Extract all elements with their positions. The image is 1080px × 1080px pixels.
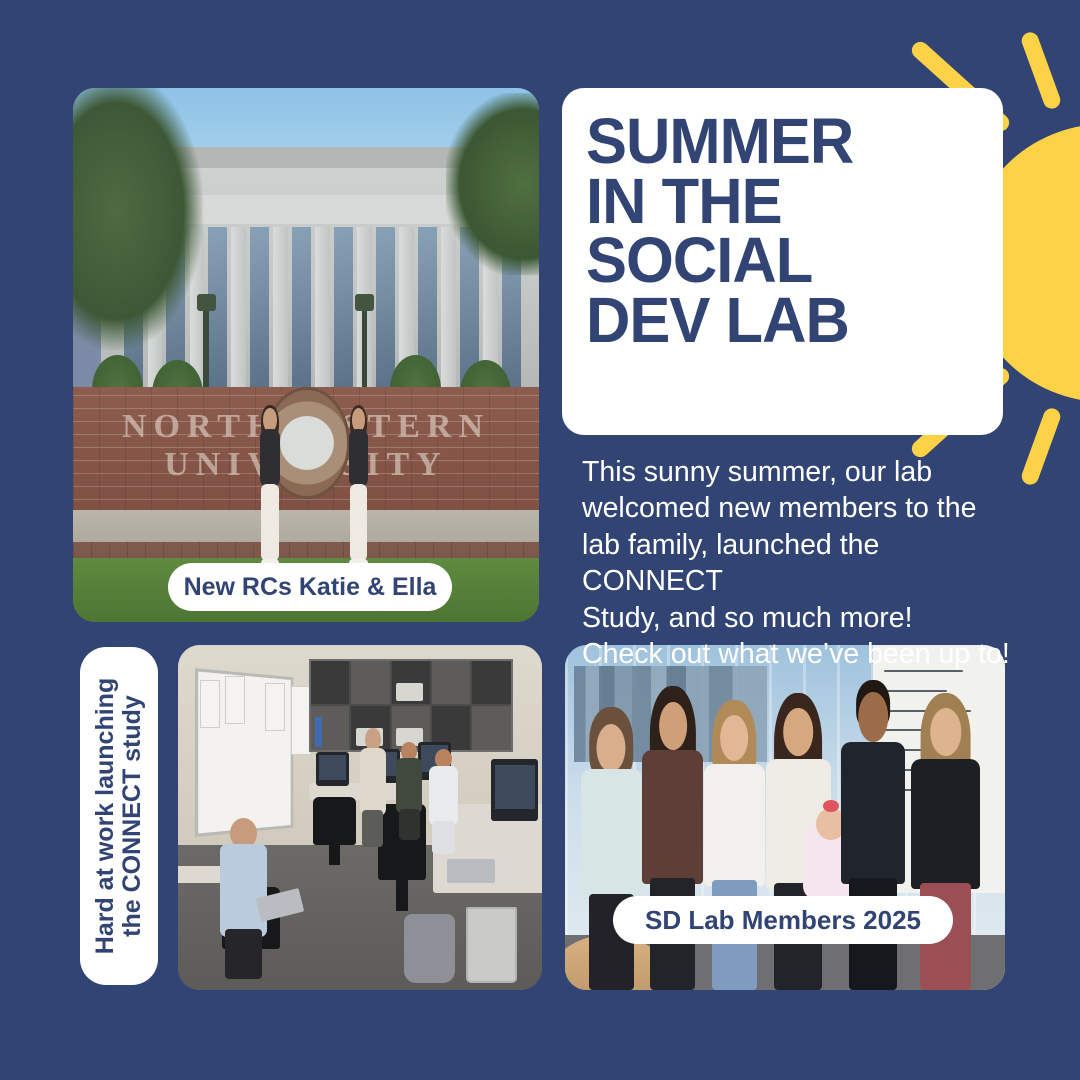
shelf-cell — [311, 661, 349, 705]
backpack — [404, 914, 455, 983]
legs — [362, 810, 383, 848]
building-window — [250, 227, 269, 393]
torso — [349, 429, 369, 487]
shelf-cell — [311, 706, 349, 750]
legs — [399, 809, 420, 840]
building-column — [273, 227, 287, 398]
tree-foliage — [73, 88, 203, 350]
group-member — [701, 700, 767, 990]
building-column — [231, 227, 245, 398]
caption-sd-lab-members: SD Lab Members 2025 — [613, 896, 953, 944]
person-katie — [255, 408, 286, 568]
wall-poster — [265, 683, 285, 731]
wall-poster — [225, 676, 245, 724]
caption-connect-line2: the CONNECT study — [118, 695, 146, 937]
legs — [432, 821, 455, 854]
torso — [642, 750, 703, 884]
page-title: SUMMER IN THE SOCIAL DEV LAB — [586, 112, 986, 350]
head — [783, 708, 813, 755]
wall-poster — [200, 680, 220, 728]
tree-foliage — [446, 93, 539, 275]
building-window — [334, 227, 353, 393]
group-member — [908, 693, 983, 990]
lamp-post — [362, 307, 368, 398]
person-at-desk — [426, 749, 462, 853]
shelf-cell — [351, 661, 389, 705]
building-column — [315, 227, 329, 398]
shelf-cell — [472, 661, 510, 705]
shelf-box — [396, 683, 423, 701]
caption-connect-text: Hard at work launchingthe CONNECT study — [92, 678, 146, 954]
head — [721, 715, 749, 761]
photo-lab-office — [178, 645, 542, 990]
torso — [911, 759, 980, 890]
lamp-post — [203, 307, 209, 398]
shelf-cell — [432, 661, 470, 705]
head — [597, 724, 626, 772]
caption-new-rcs: New RCs Katie & Ella — [168, 563, 452, 611]
torso — [220, 844, 267, 936]
sun-ray — [1019, 406, 1062, 487]
torso — [429, 766, 458, 826]
monitor — [316, 752, 349, 787]
office-chair — [313, 797, 357, 845]
torso — [581, 769, 642, 899]
building-window — [376, 227, 395, 393]
torso — [260, 429, 280, 487]
sun-ray — [1019, 30, 1062, 111]
person-seated — [393, 742, 426, 839]
building-window — [292, 227, 311, 393]
title-card: SUMMER IN THE SOCIAL DEV LAB — [562, 88, 1003, 435]
legs — [261, 484, 278, 561]
shelf-cell — [392, 661, 430, 705]
torso — [396, 758, 422, 814]
person-ella — [343, 408, 374, 568]
laptop — [447, 859, 494, 883]
storage-shelving — [309, 659, 513, 752]
legs — [350, 484, 367, 561]
head — [659, 702, 687, 751]
trash-bin — [466, 907, 517, 983]
group-member — [640, 686, 706, 990]
poster-canvas: NORTHEASTERN UNIVERSITY New RCs K — [0, 0, 1080, 1080]
caption-connect-line1: Hard at work launching — [91, 678, 119, 954]
head — [858, 692, 888, 742]
torso — [841, 742, 906, 885]
photo-campus-building: NORTHEASTERN UNIVERSITY — [73, 88, 539, 622]
person-standing — [356, 728, 389, 845]
body-paragraph: This sunny summer, our lab welcomed new … — [582, 454, 1012, 673]
legs — [225, 929, 262, 980]
torso — [704, 764, 765, 886]
shelf-cell — [472, 706, 510, 750]
caption-connect-study: Hard at work launchingthe CONNECT study — [80, 647, 158, 985]
monitor — [491, 759, 538, 821]
torso — [360, 748, 386, 816]
binder — [315, 717, 322, 748]
wall-poster — [291, 686, 311, 755]
group-member — [578, 707, 644, 990]
